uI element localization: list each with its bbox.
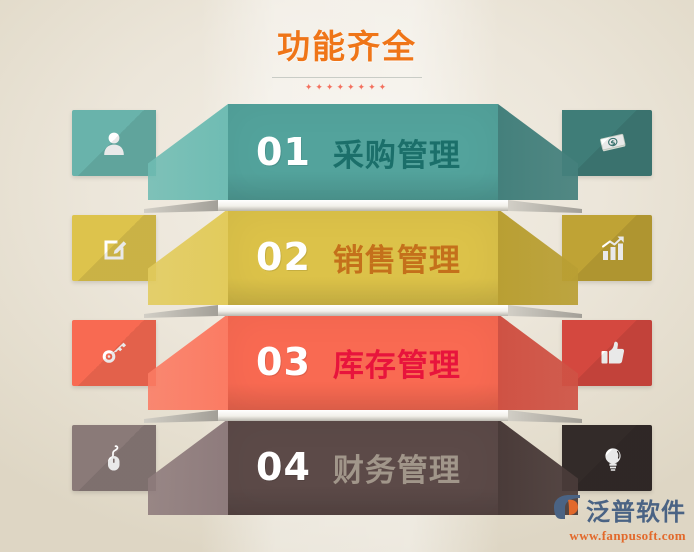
page-title: 功能齐全 <box>0 20 694 68</box>
banner-row[interactable]: 03库存管理 <box>0 314 694 410</box>
title-block: 功能齐全 ✦✦✦✦✦✦✦✦ <box>0 20 694 92</box>
logo-name: 泛普软件 <box>586 492 686 527</box>
infographic-canvas: 功能齐全 ✦✦✦✦✦✦✦✦ $ 01采购管理 <box>0 0 694 552</box>
row-wing-left <box>148 104 228 200</box>
row-number: 01 <box>256 130 311 174</box>
row-label: 库存管理 <box>333 340 461 385</box>
logo-lockup: 泛普软件 <box>552 492 686 527</box>
row-face: 03库存管理 <box>228 314 498 410</box>
row-face: 02销售管理 <box>228 209 498 305</box>
row-number: 03 <box>256 340 311 384</box>
row-wing-left <box>148 419 228 515</box>
row-wing-left <box>148 314 228 410</box>
title-stars: ✦✦✦✦✦✦✦✦ <box>0 83 694 92</box>
title-divider <box>272 77 422 78</box>
logo-url: www.fanpusoft.com <box>569 528 686 544</box>
row-number: 02 <box>256 235 311 279</box>
row-label: 采购管理 <box>333 130 461 175</box>
row-number: 04 <box>256 445 311 489</box>
banner-row[interactable]: 01采购管理 <box>0 104 694 200</box>
banner-row[interactable]: 02销售管理 <box>0 209 694 305</box>
row-face: 01采购管理 <box>228 104 498 200</box>
row-label: 财务管理 <box>333 445 461 490</box>
row-face: 04财务管理 <box>228 419 498 515</box>
row-wing-right <box>498 314 578 410</box>
row-wing-right <box>498 104 578 200</box>
brand-logo[interactable]: 泛普软件 www.fanpusoft.com <box>552 492 686 544</box>
row-wing-right <box>498 209 578 305</box>
row-label: 销售管理 <box>333 235 461 280</box>
row-wing-left <box>148 209 228 305</box>
logo-mark-icon <box>552 494 582 525</box>
